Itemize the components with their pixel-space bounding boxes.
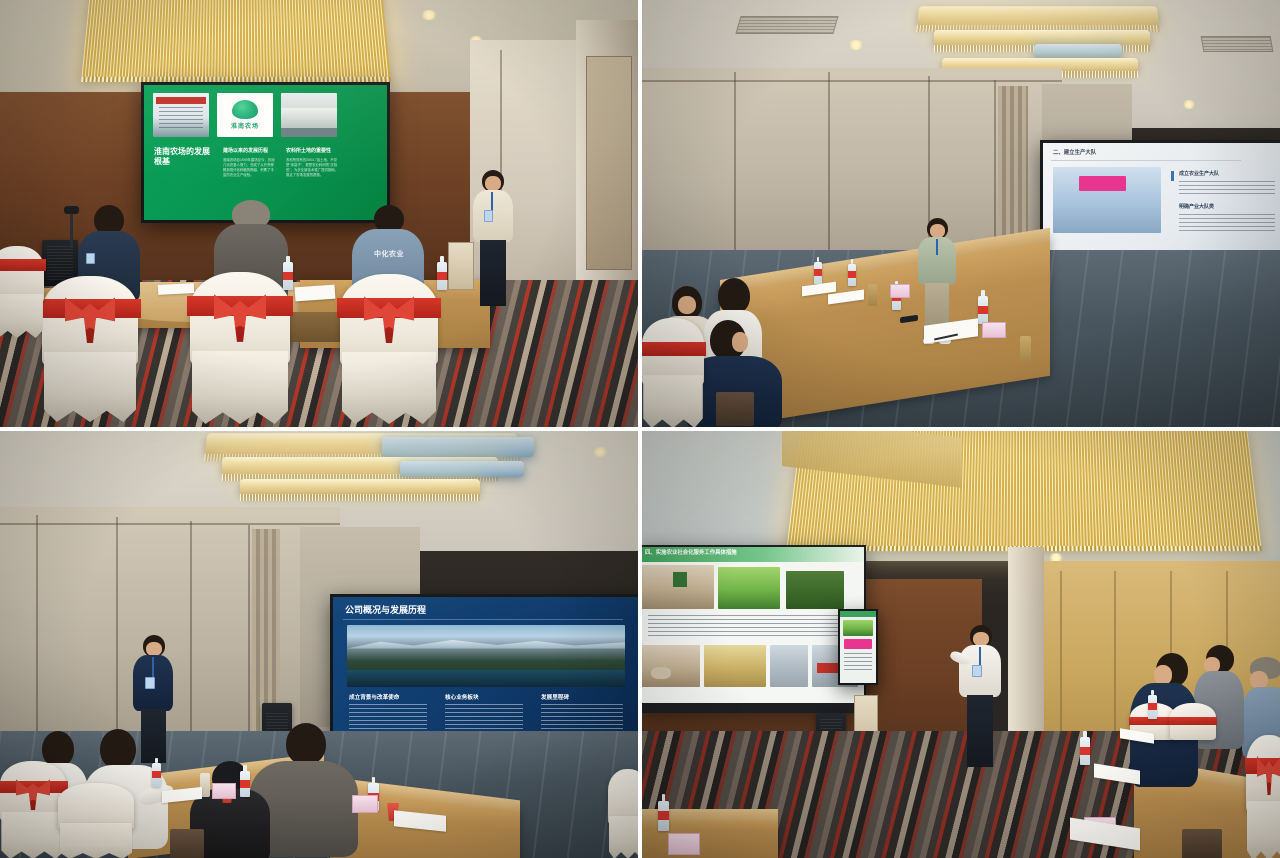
name-tent [668, 833, 700, 855]
led-screen-blue: 公司概况与发展历程 成立背景与改革使命 核心业务板块 发展里程碑 [330, 594, 638, 744]
slide-thumb-certificate [153, 93, 209, 137]
gold-chandelier-panel [81, 0, 390, 79]
slide-col-heading: 农科所土地的重要性 [286, 147, 340, 154]
chandelier-slat-cool [382, 437, 534, 457]
slide-col-heading: 成立背景与改革使命 [349, 693, 429, 701]
handbag [170, 829, 204, 858]
water-bottle [152, 763, 161, 787]
screen-base [642, 703, 864, 713]
panel-bottom-right: 四、实施农业社会化服务工作具体措施 [642, 431, 1280, 858]
water-bottle [1080, 737, 1090, 765]
slide-col-heading: 成立农业生产大队 [1179, 170, 1269, 177]
water-bottle [658, 801, 669, 831]
water-bottle [283, 262, 293, 290]
photo-collage: 淮南农场 淮南农场的发展根基 建场以来的发展历程 淮南农场自1949年建场至今，… [0, 0, 1280, 858]
shirt-logo-text: 中化农业 [368, 249, 410, 258]
chandelier-slat-cool [1034, 44, 1122, 58]
water-bottle [1148, 695, 1157, 719]
chair-with-sash [1246, 735, 1280, 858]
chair-with-sash [642, 318, 704, 427]
slide-thumb-logo: 淮南农场 [217, 93, 273, 137]
slide-thumb-harvest-field [704, 645, 766, 687]
ac-vent [735, 16, 838, 34]
slide-col-heading: 核心业务板块 [445, 693, 525, 701]
water-bottle [848, 264, 856, 286]
presenter [954, 625, 1006, 771]
chair-with-sash [190, 272, 290, 424]
slide-thumb-wheat-field [770, 645, 808, 687]
name-tent [982, 322, 1006, 338]
panel-bottom-left: 公司概况与发展历程 成立背景与改革使命 核心业务板块 发展里程碑 [0, 431, 638, 858]
slide-thumb-cotton-harvest [642, 565, 714, 609]
name-tent [212, 783, 236, 799]
document [295, 285, 336, 302]
slide-title: 二、建立生产大队 [1053, 150, 1163, 157]
farm-logo-label: 淮南农场 [231, 121, 259, 130]
presenter [470, 170, 516, 310]
wall-pillar [1008, 547, 1044, 761]
downlight-icon [592, 447, 608, 457]
slide-title: 淮南农场的发展根基 [154, 147, 216, 167]
chandelier-slat-cool [400, 461, 524, 477]
slide-thumb-cotton-bale [642, 645, 700, 687]
handbag [716, 392, 754, 426]
name-tent [890, 284, 910, 298]
led-screen-secondary [838, 609, 878, 685]
led-screen-light: 四、实施农业社会化服务工作具体措施 [642, 545, 866, 707]
chair-with-sash [58, 783, 134, 858]
name-tent [352, 795, 378, 813]
chair-with-sash [608, 769, 638, 858]
box-prop [448, 242, 474, 290]
slide-title: 四、实施农业社会化服务工作具体措施 [645, 550, 860, 557]
document [158, 283, 194, 295]
water-bottle [437, 262, 447, 290]
chair-with-sash [0, 761, 66, 858]
ac-vent [1201, 36, 1274, 52]
water-bottle [240, 771, 250, 797]
thermos [868, 284, 877, 306]
chair-with-sash [340, 274, 438, 424]
chandelier-slat [917, 6, 1159, 26]
slide-thumb-meeting [1053, 167, 1161, 233]
water-bottle [978, 296, 988, 324]
water-bottle [814, 262, 822, 284]
led-screen-white: 二、建立生产大队 成立农业生产大队 明确产业大队类 [1040, 140, 1280, 258]
chandelier-slat [240, 479, 480, 495]
door [586, 56, 632, 270]
slide-thumb-crop-field [786, 571, 844, 609]
thermos [1020, 336, 1031, 362]
slide-col-body: 农科所现有的2004.7亩土地，不仅是"米袋子"，更是农业科研的"试验田"，为农… [286, 158, 340, 178]
panel-top-right: 二、建立生产大队 成立农业生产大队 明确产业大队类 [642, 0, 1280, 427]
slide-col-heading: 发展里程碑 [541, 693, 623, 701]
handbag [1182, 829, 1222, 858]
slide-thumb-farmhouse [281, 93, 337, 137]
downlight-icon [420, 10, 438, 20]
downlight-icon [848, 40, 864, 50]
panel-top-left: 淮南农场 淮南农场的发展根基 建场以来的发展历程 淮南农场自1949年建场至今，… [0, 0, 638, 427]
slide-thumb-green-rows [718, 567, 780, 609]
slide-hero-mountain [347, 625, 625, 687]
slide-col-heading: 建场以来的发展历程 [223, 147, 275, 154]
chair-with-sash [0, 246, 44, 338]
slide-col-heading: 明确产业大队类 [1179, 203, 1269, 210]
chair-with-sash [1170, 703, 1216, 763]
slide-title: 公司概况与发展历程 [345, 605, 495, 616]
chair-with-sash [42, 276, 138, 422]
downlight-icon [1182, 100, 1196, 109]
slide-col-body: 淮南农场自1949年建场至今，历经几代农垦人努力，完成了从开荒种粮到现代化种植的… [223, 158, 275, 178]
leaf-icon [232, 100, 258, 118]
